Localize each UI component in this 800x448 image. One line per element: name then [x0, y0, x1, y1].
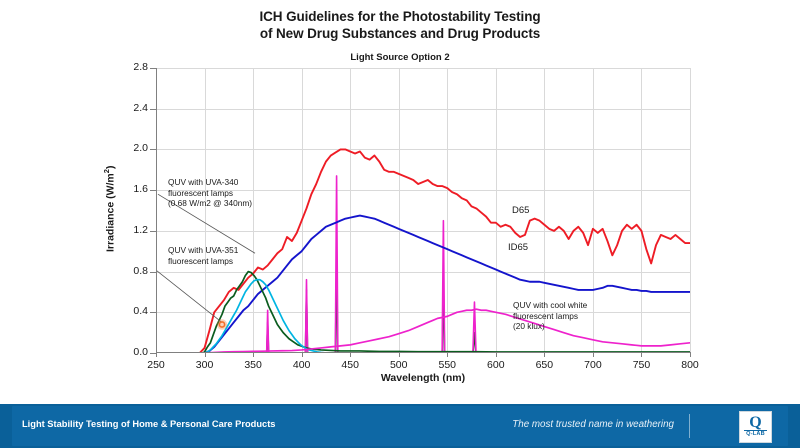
annotation-coolwhite: QUV with cool white fluorescent lamps (2…	[513, 300, 587, 332]
y-tick-label: 0.0	[88, 346, 148, 358]
annotation-uva351: QUV with UVA-351 fluorescent lamps	[168, 245, 238, 266]
curves-layer	[156, 68, 690, 353]
x-tick	[496, 352, 497, 357]
annotation-coolwhite-line3: (20 klux)	[513, 321, 587, 332]
y-tick-label: 2.8	[88, 61, 148, 73]
title-line-2: of New Drug Substances and Drug Products	[0, 25, 800, 42]
footer-bar: Light Stability Testing of Home & Person…	[0, 404, 800, 448]
spike-quv-436	[335, 176, 338, 353]
footer-inner: Light Stability Testing of Home & Person…	[12, 406, 788, 446]
annotation-uva340-line3: (0.68 W/m2 @ 340nm)	[168, 198, 252, 209]
y-axis-line	[156, 68, 157, 353]
y-tick-label: 0.8	[88, 265, 148, 277]
series-label-d65: D65	[512, 205, 529, 216]
qlab-logo: Q Q-LAB	[739, 411, 772, 443]
x-tick	[544, 352, 545, 357]
x-tick	[641, 352, 642, 357]
x-tick	[156, 352, 157, 357]
y-tick-label: 0.4	[88, 305, 148, 317]
annotation-uva340-line2: fluorescent lamps	[168, 188, 252, 199]
y-tick	[150, 272, 156, 273]
y-tick-label: 1.6	[88, 183, 148, 195]
y-axis-title: Irradiance (W/m2)	[102, 166, 117, 252]
x-tick	[350, 352, 351, 357]
y-tick	[150, 312, 156, 313]
annotation-uva340: QUV with UVA-340 fluorescent lamps (0.68…	[168, 177, 252, 209]
annotation-uva351-line1: QUV with UVA-351	[168, 245, 238, 256]
curve-id65	[156, 216, 690, 353]
annotation-uva351-line2: fluorescent lamps	[168, 256, 238, 267]
annotation-uva340-line1: QUV with UVA-340	[168, 177, 252, 188]
y-tick-label: 1.2	[88, 224, 148, 236]
y-tick-label: 2.4	[88, 102, 148, 114]
y-tick	[150, 231, 156, 232]
series-label-id65: ID65	[508, 242, 528, 253]
annotation-coolwhite-line2: fluorescent lamps	[513, 311, 587, 322]
x-axis-title: Wavelength (nm)	[156, 372, 690, 384]
x-tick	[253, 352, 254, 357]
footer-title: Light Stability Testing of Home & Person…	[22, 419, 275, 429]
x-tick-label: 800	[660, 359, 720, 371]
logo-wordmark: Q-LAB	[740, 431, 771, 437]
y-tick	[150, 68, 156, 69]
spike-quv-546	[442, 221, 445, 353]
x-tick	[399, 352, 400, 357]
spectral-power-distribution-chart: 0.00.40.81.21.62.02.42.82503003504004505…	[156, 68, 690, 353]
x-axis-line	[156, 352, 690, 353]
x-tick	[302, 352, 303, 357]
uva340-reference-point-halo	[217, 319, 227, 329]
y-tick	[150, 190, 156, 191]
x-tick	[205, 352, 206, 357]
slide-canvas: ICH Guidelines for the Photostability Te…	[0, 0, 800, 448]
x-tick	[447, 352, 448, 357]
y-tick-label: 2.0	[88, 142, 148, 154]
spike-quv-405	[305, 280, 307, 353]
footer-divider	[689, 414, 690, 438]
plot-area	[156, 68, 690, 353]
footer-tagline: The most trusted name in weathering	[512, 419, 674, 430]
y-tick	[150, 149, 156, 150]
x-tick	[690, 352, 691, 357]
annotation-coolwhite-line1: QUV with cool white	[513, 300, 587, 311]
title-line-1: ICH Guidelines for the Photostability Te…	[0, 8, 800, 25]
y-tick	[150, 109, 156, 110]
slide-title: ICH Guidelines for the Photostability Te…	[0, 8, 800, 42]
x-tick	[593, 352, 594, 357]
gridline-vertical	[690, 68, 691, 353]
curve-quv-with-cool-white-fluorescent-lamps-20-klux-	[156, 309, 690, 353]
